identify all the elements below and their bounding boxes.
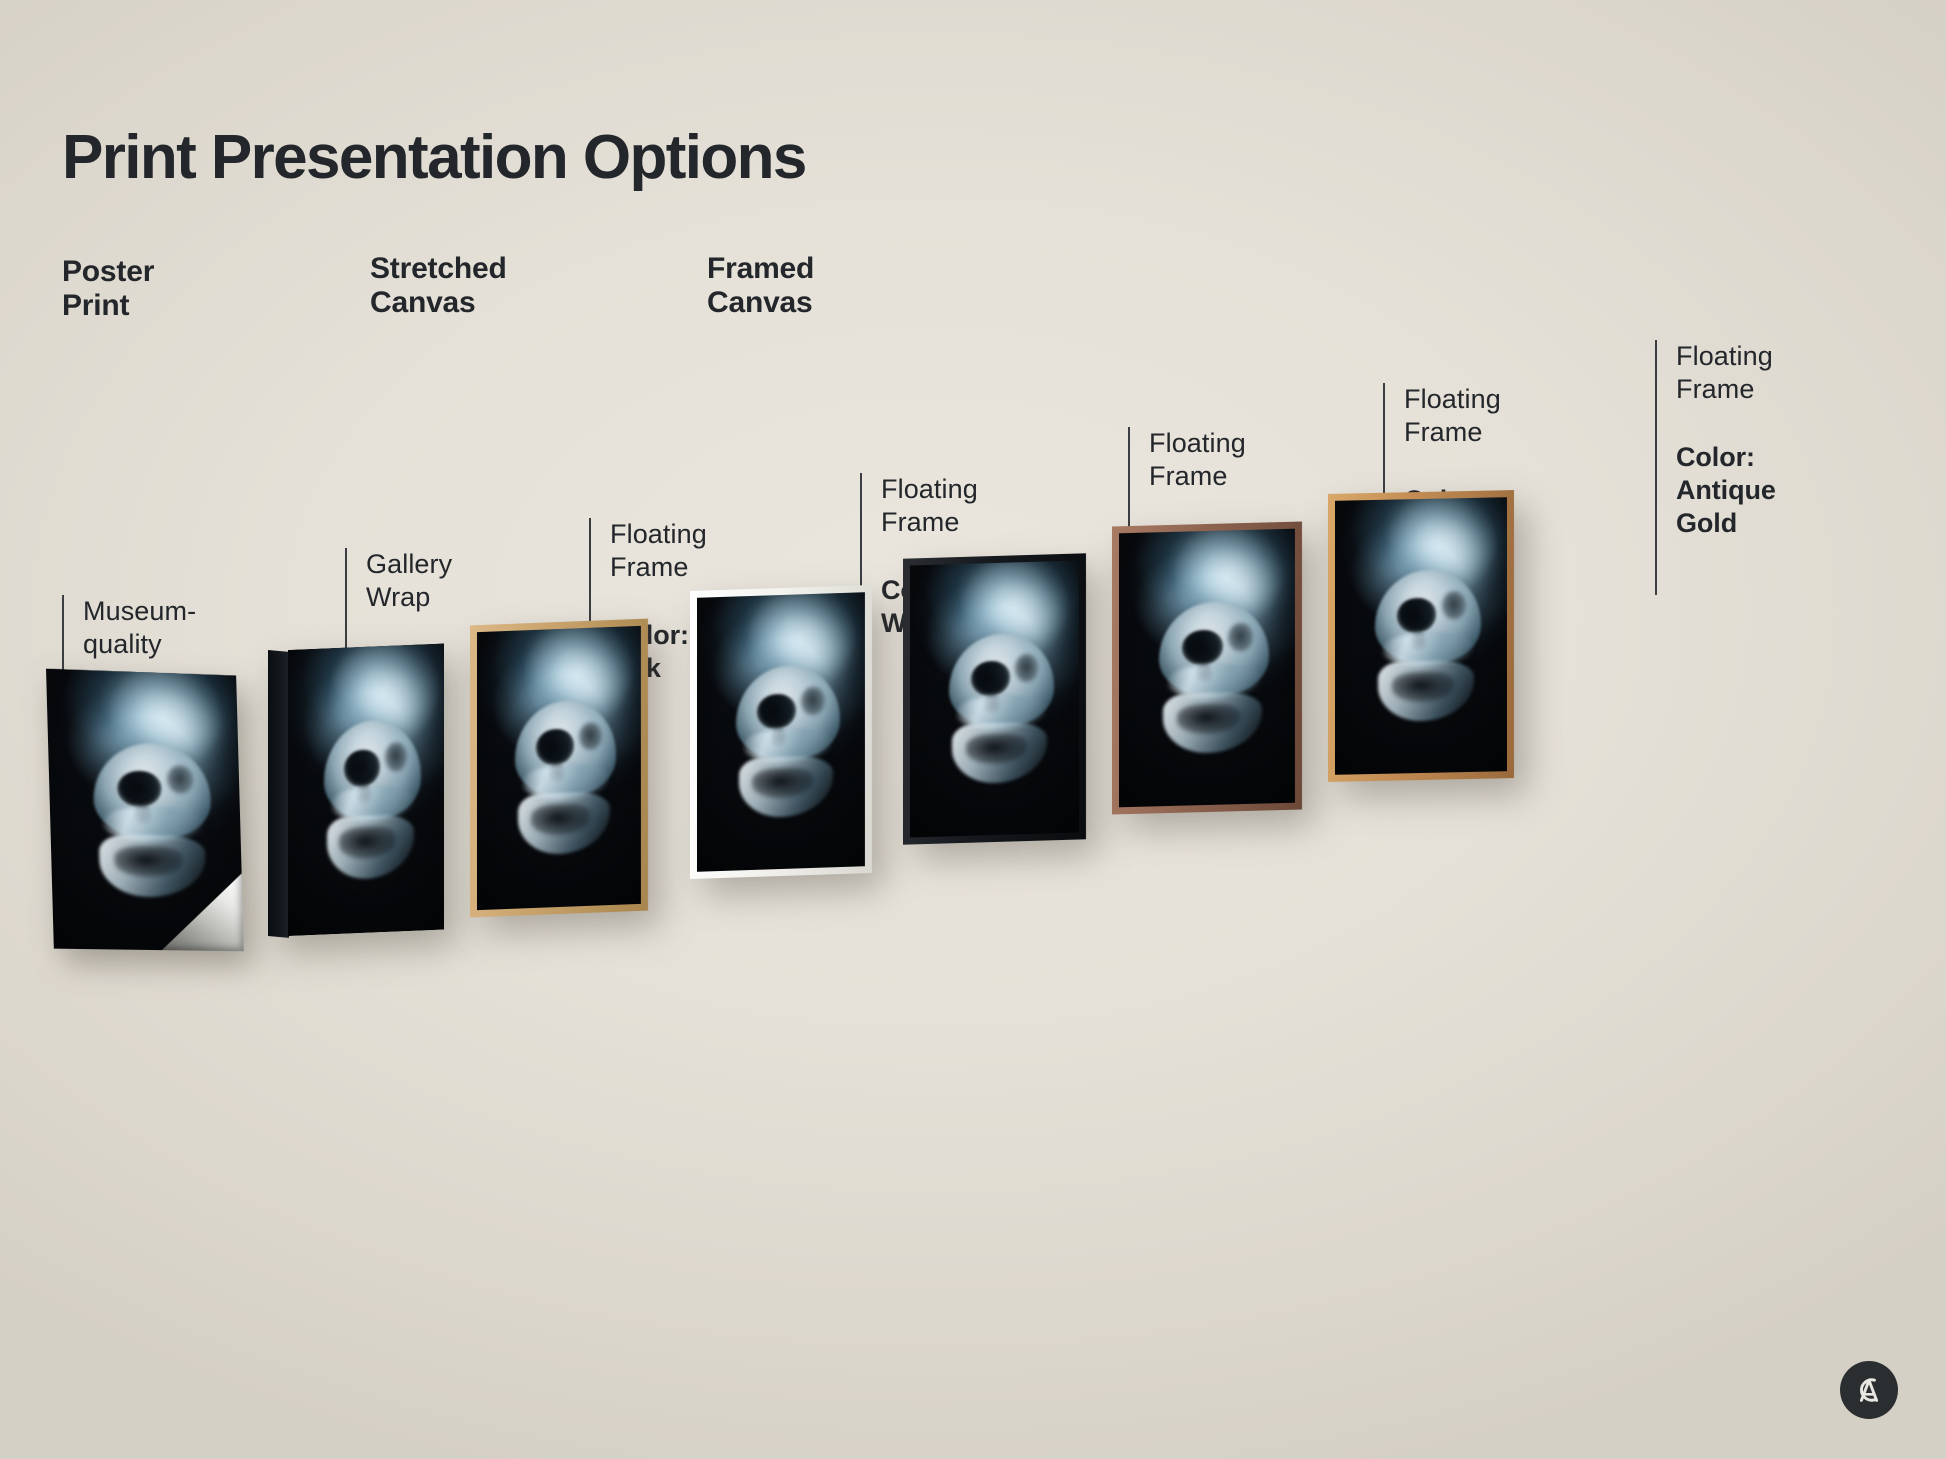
floating-frame-oak (470, 619, 648, 918)
column-header-framed-canvas: Framed Canvas (707, 252, 814, 319)
mockup-framed-oak[interactable] (470, 619, 648, 918)
annotation-sub-text: Color: Antique Gold (1676, 441, 1776, 540)
floating-frame-antique-gold (1328, 490, 1514, 782)
annotation-main-text: Floating Frame (1149, 427, 1246, 494)
artwork-skull-smoke (288, 643, 444, 936)
mockup-poster-print[interactable] (46, 669, 244, 952)
mockup-framed-white[interactable] (690, 585, 872, 879)
mockup-framed-black[interactable] (903, 553, 1086, 844)
floating-frame-white (690, 585, 872, 879)
artwork-skull-smoke (1119, 529, 1295, 808)
artwork-skull-smoke (477, 626, 641, 910)
annotation-main-text: Floating Frame (610, 518, 707, 585)
column-header-poster-print: Poster Print (62, 255, 154, 322)
annotation-main-text: Floating Frame (1676, 340, 1776, 407)
annotation-main-text: Floating Frame (881, 473, 978, 540)
artwork-skull-smoke (910, 560, 1079, 837)
annotation-main-text: Gallery Wrap (366, 548, 452, 615)
page-title: Print Presentation Options (62, 122, 806, 193)
canvas-mirror-edge (268, 650, 289, 938)
mockup-framed-antique-gold[interactable] (1328, 490, 1514, 782)
ca-monogram-icon (1849, 1370, 1889, 1410)
floating-frame-black (903, 553, 1086, 844)
canvas-face (288, 643, 444, 936)
annotation-framed-antique-gold: Floating Frame Color: Antique Gold (1655, 340, 1776, 595)
mockup-framed-brown[interactable] (1112, 522, 1302, 815)
poster-canvas: Print Presentation Options Poster Print … (0, 0, 1946, 1459)
artwork-skull-smoke (1335, 497, 1507, 775)
artwork-skull-smoke (697, 592, 865, 872)
mockup-stretched-canvas[interactable] (268, 650, 444, 936)
brand-logo (1840, 1361, 1898, 1419)
floating-frame-brown (1112, 522, 1302, 815)
column-header-stretched-canvas: Stretched Canvas (370, 252, 507, 319)
annotation-main-text: Floating Frame (1404, 383, 1501, 450)
